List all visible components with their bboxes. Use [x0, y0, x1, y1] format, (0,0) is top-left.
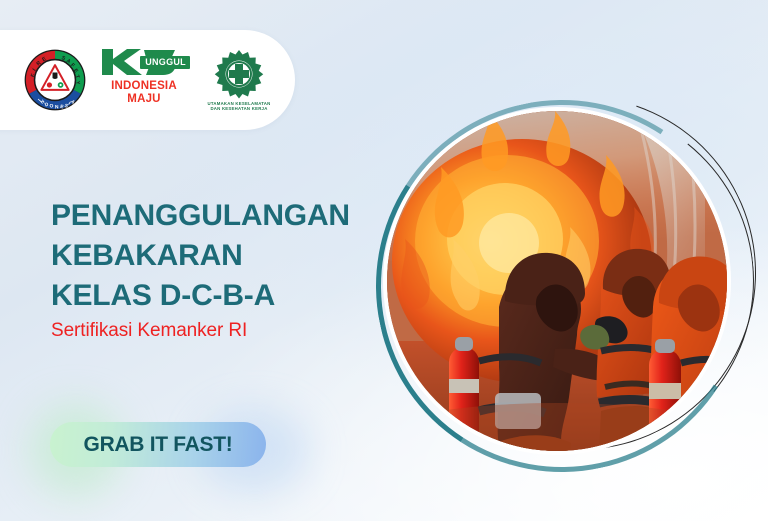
headline-line-3: KELAS D-C-B-A — [51, 276, 391, 316]
k3-unggul-badge: UNGGUL — [140, 56, 190, 69]
promotional-banner: F I R E S A F E T Y I N D — [0, 0, 768, 521]
svg-text:N: N — [55, 104, 59, 110]
headline-line-1: PENANGGULANGAN — [51, 196, 391, 236]
grab-it-fast-button[interactable]: GRAB IT FAST! — [50, 422, 266, 467]
grab-it-fast-label: GRAB IT FAST! — [84, 433, 233, 457]
k3-subtext: INDONESIA MAJU — [111, 80, 177, 105]
headline-subtitle: Sertifikasi Kemanker RI — [51, 319, 391, 343]
k3-gear-cross-logo: UTAMAKAN KESELAMATAN DAN KESEHATAN KERJA — [202, 45, 276, 115]
fire-safety-indonesia-logo: F I R E S A F E T Y I N D — [24, 49, 86, 111]
headline-block: PENANGGULANGAN KEBAKARAN KELAS D-C-B-A S… — [51, 196, 391, 343]
gear-caption-line2: DAN KESEHATAN KERJA — [201, 106, 277, 111]
k3-unggul-logo: UNGGUL INDONESIA MAJU — [100, 47, 188, 113]
logo-bar: F I R E S A F E T Y I N D — [0, 30, 295, 130]
gear-cross-icon — [214, 49, 264, 99]
hero-image-block — [376, 98, 756, 478]
firefighters-fire-scene-illustration — [387, 111, 727, 451]
fire-safety-seal-icon: F I R E S A F E T Y I N D — [24, 49, 86, 111]
firefighters-photo — [387, 111, 727, 451]
k3-subtext-line1: INDONESIA — [111, 80, 177, 93]
k3-subtext-line2: MAJU — [111, 93, 177, 106]
k3-mark: UNGGUL — [100, 47, 188, 77]
gear-logo-caption: UTAMAKAN KESELAMATAN DAN KESEHATAN KERJA — [201, 101, 277, 112]
headline-line-2: KEBAKARAN — [51, 236, 391, 276]
